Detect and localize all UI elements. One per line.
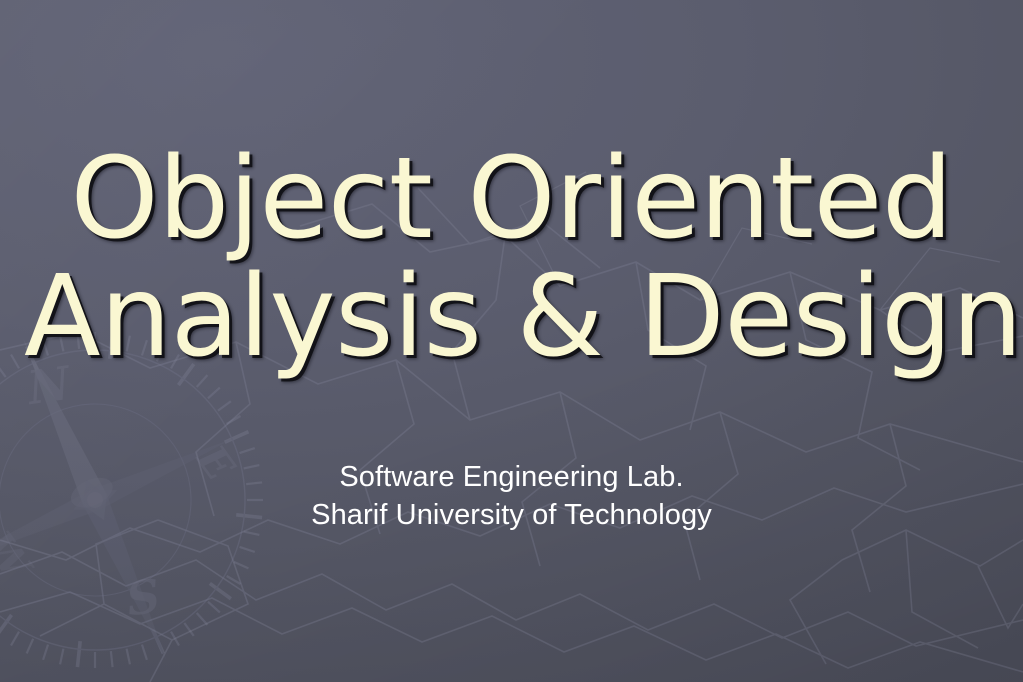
slide-subtitle-line-1: Software Engineering Lab. [24, 458, 999, 496]
slide-title-line-1: Object Oriented [24, 140, 999, 258]
slide-title: Object Oriented Analysis & Design [0, 140, 1023, 376]
slide-content: Object Oriented Analysis & Design Softwa… [0, 0, 1023, 682]
slide-subtitle-line-2: Sharif University of Technology [24, 496, 999, 534]
slide-subtitle: Software Engineering Lab. Sharif Univers… [0, 458, 1023, 534]
slide-title-line-2: Analysis & Design [24, 258, 999, 376]
title-slide: N S E W Object Oriented Analysis & Desig… [0, 0, 1023, 682]
